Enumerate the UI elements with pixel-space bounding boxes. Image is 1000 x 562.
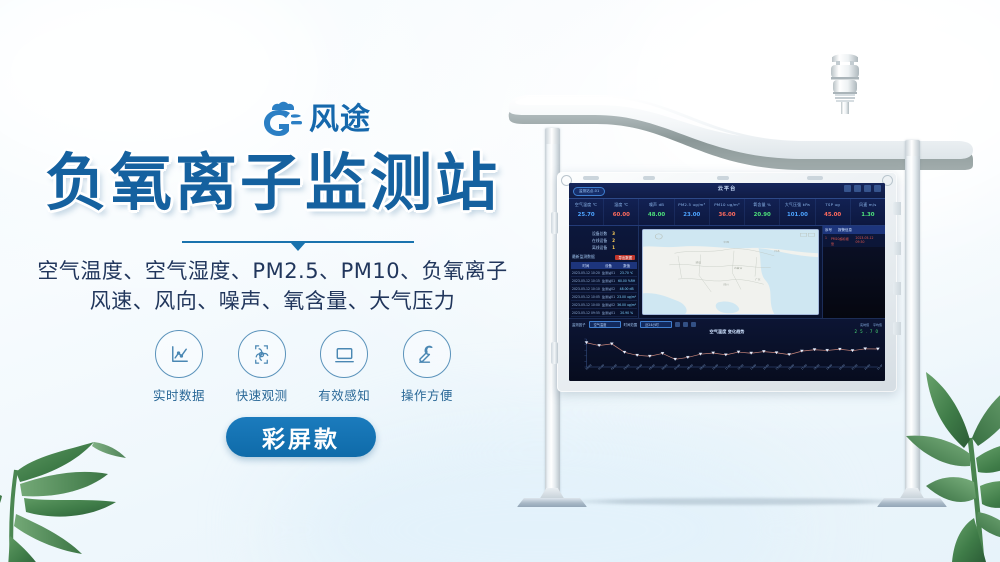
dashboard-middle: 设备总数3在线设备2离线设备1 最新监测数据 导出数据 时间设备数值 2023-… xyxy=(569,226,885,318)
kpi-card: 风速 m/s1.30 xyxy=(851,199,885,225)
monitor-icon xyxy=(320,330,368,378)
svg-text:内蒙古: 内蒙古 xyxy=(734,266,743,269)
kpi-card: PM2.5 ug/m³23.00 xyxy=(675,199,710,225)
kpi-label: 空气温度 ℃ xyxy=(569,202,603,208)
alarm-header: 序号 报警信息 xyxy=(823,226,885,234)
feature-list: 实时数据 快速观测 xyxy=(143,330,463,404)
pole-cap-right xyxy=(905,140,920,156)
table-row[interactable]: 2023-05-12 10:10监测站0248.00 dB xyxy=(571,285,637,293)
table-cell: 监测站01 xyxy=(601,277,616,285)
feature-item-effective-sensing[interactable]: 有效感知 xyxy=(308,330,380,404)
feature-item-easy-operation[interactable]: 操作方便 xyxy=(391,330,463,404)
feature-item-realtime-data[interactable]: 实时数据 xyxy=(143,330,215,404)
kpi-value: 1.30 xyxy=(851,212,885,218)
ultrasonic-weather-sensor-icon xyxy=(822,52,868,114)
alarm-cell: 2023-05-12 09:30 xyxy=(856,236,883,246)
table-cell: 监测站01 xyxy=(601,293,616,301)
line-chart-icon xyxy=(155,330,203,378)
legend-item-1: 平均值 xyxy=(873,323,882,327)
dashboard-right-panel: 序号 报警信息 1PM10超标报警2023-05-12 09:30 xyxy=(822,226,885,318)
kpi-value: 101.00 xyxy=(780,212,814,218)
table-cell: 23.00 ug/m³ xyxy=(616,293,637,301)
kpi-card: PM10 ug/m³36.00 xyxy=(710,199,745,225)
bezel-tab-4 xyxy=(807,176,823,180)
feature-item-fast-observation[interactable]: 快速观测 xyxy=(226,330,298,404)
bezel-tab-1 xyxy=(583,176,599,180)
chart-tool-bar-icon[interactable] xyxy=(675,322,680,327)
cabinet-hinge-left xyxy=(551,212,558,234)
kpi-value: 20.90 xyxy=(745,212,779,218)
feature-label: 实时数据 xyxy=(143,385,215,404)
feature-label: 有效感知 xyxy=(308,385,380,404)
pole-cap-left xyxy=(545,128,560,144)
svg-text:四川: 四川 xyxy=(724,284,730,287)
svg-text:23:00: 23:00 xyxy=(877,364,882,371)
alarm-cell: 1 xyxy=(825,236,827,246)
alarm-empty-area xyxy=(823,247,885,319)
display-cabinet: 监测站点-01 云平台 空气温度 ℃25.70湿度 ℃60.00噪声 dB48.… xyxy=(557,172,897,392)
device-stat-value: 3 xyxy=(612,230,615,237)
toolbar-icon-4[interactable] xyxy=(874,185,881,192)
alarm-col-1: 报警信息 xyxy=(838,228,852,233)
chart-legend: 实时值 平均值 xyxy=(860,323,882,327)
ground-shadow xyxy=(560,498,920,505)
alarm-cell: PM10超标报警 xyxy=(831,236,852,246)
base-plate-right xyxy=(877,488,947,506)
subtitle-line-1: 空气温度、空气湿度、PM2.5、PM10、负氧离子 xyxy=(0,256,545,286)
trend-chart: 00:0001:0002:0003:0004:0005:0006:0007:00… xyxy=(572,335,882,379)
table-row[interactable]: 2023-05-12 10:15监测站0160.00 %RH xyxy=(571,277,637,285)
brand-logo: 风途 xyxy=(258,100,371,140)
subtitle-line-2: 风速、风向、噪声、氧含量、大气压力 xyxy=(0,286,545,316)
device-stat-label: 在线设备 xyxy=(592,237,607,244)
dashboard-header: 监测站点-01 云平台 xyxy=(569,183,885,199)
table-cell: 2023-05-12 10:10 xyxy=(571,285,601,293)
kpi-label: 大气压强 kPa xyxy=(780,202,814,208)
table-column-header: 数值 xyxy=(616,262,637,269)
table-cell: 2023-05-12 10:00 xyxy=(571,301,601,309)
device-map[interactable]: 中国 新疆 内蒙古 四川 广东 日本 xyxy=(642,229,819,315)
kpi-label: 湿度 ℃ xyxy=(604,202,638,208)
export-button[interactable]: 导出数据 xyxy=(615,255,635,260)
cabinet-lug-3 xyxy=(893,282,901,295)
device-stat-row: 设备总数3 xyxy=(571,230,636,237)
table-caption: 最新监测数据 xyxy=(572,254,595,260)
table-header-bar: 最新监测数据 导出数据 xyxy=(572,254,635,260)
chart-controls: 监测因子 空气温度 时间范围 近24小时 实时值 平均值 xyxy=(569,321,885,328)
wrench-icon xyxy=(403,330,451,378)
cta-button[interactable]: 彩屏款 xyxy=(226,417,376,457)
toolbar-icon-1[interactable] xyxy=(844,185,851,192)
dashboard-left-panel: 设备总数3在线设备2离线设备1 最新监测数据 导出数据 时间设备数值 2023-… xyxy=(569,226,639,318)
chart-tool-export-icon[interactable] xyxy=(691,322,696,327)
table-cell: 23.70 ℃ xyxy=(616,269,637,277)
svg-text:新疆: 新疆 xyxy=(696,261,702,264)
device-stats: 设备总数3在线设备2离线设备1 xyxy=(571,230,636,251)
table-cell: 监测站02 xyxy=(601,285,616,293)
table-cell: 48.00 dB xyxy=(616,285,637,293)
table-head-row: 时间设备数值 xyxy=(571,262,637,269)
cloud-g-leaf-logo-icon xyxy=(258,100,302,140)
device-stat-row: 在线设备2 xyxy=(571,237,636,244)
bezel-tab-2 xyxy=(643,176,655,180)
table-cell: 36.00 ug/m³ xyxy=(616,301,637,309)
cabinet-lug-1 xyxy=(893,202,901,215)
brand-name: 风途 xyxy=(309,105,371,135)
toolbar-icon-3[interactable] xyxy=(864,185,871,192)
kpi-value: 23.00 xyxy=(675,212,709,218)
hero-subtitle: 空气温度、空气湿度、PM2.5、PM10、负氧离子 风速、风向、噪声、氧含量、大… xyxy=(0,256,545,316)
bezel-tab-3 xyxy=(717,176,729,180)
kpi-card: TSP ug45.00 xyxy=(816,199,851,225)
table-row[interactable]: 2023-05-12 09:55监测站0120.90 % xyxy=(571,309,637,317)
table-column-header: 时间 xyxy=(571,262,601,269)
kpi-value: 25.70 xyxy=(569,212,603,218)
radar-scan-icon xyxy=(238,330,286,378)
table-cell: 20.90 % xyxy=(616,309,637,317)
device-stat-label: 离线设备 xyxy=(592,244,607,251)
kpi-value: 60.00 xyxy=(604,212,638,218)
device-stat-label: 设备总数 xyxy=(592,230,607,237)
kpi-label: 噪声 dB xyxy=(639,202,673,208)
table-cell: 2023-05-12 10:15 xyxy=(571,277,601,285)
cabinet-lug-2 xyxy=(893,242,901,255)
range-label: 时间范围 xyxy=(624,322,638,327)
kpi-card: 氧含量 %20.90 xyxy=(745,199,780,225)
table-cell: 2023-05-12 10:20 xyxy=(571,269,601,277)
feature-label: 快速观测 xyxy=(226,385,298,404)
title-divider xyxy=(182,238,414,252)
poster-canvas: 监测站点-01 云平台 空气温度 ℃25.70湿度 ℃60.00噪声 dB48.… xyxy=(0,0,1000,562)
kpi-value: 45.00 xyxy=(816,212,850,218)
svg-text:日本: 日本 xyxy=(774,249,780,252)
factor-select[interactable]: 空气温度 xyxy=(589,321,621,328)
kpi-label: PM2.5 ug/m³ xyxy=(675,202,709,208)
table-cell: 监测站01 xyxy=(601,269,616,277)
kpi-value: 36.00 xyxy=(710,212,744,218)
table-row[interactable]: 2023-05-12 10:20监测站0123.70 ℃ xyxy=(571,269,637,277)
table-cell: 监测站02 xyxy=(601,301,616,309)
page-title: 负氧离子监测站 xyxy=(0,152,545,214)
toolbar-icon-2[interactable] xyxy=(854,185,861,192)
table-cell: 2023-05-12 09:55 xyxy=(571,309,601,317)
svg-text:广东: 广东 xyxy=(755,278,761,281)
table-row[interactable]: 2023-05-12 10:00监测站0236.00 ug/m³ xyxy=(571,301,637,309)
kpi-card: 大气压强 kPa101.00 xyxy=(780,199,815,225)
alarm-row[interactable]: 1PM10超标报警2023-05-12 09:30 xyxy=(823,234,885,247)
cabinet-hinge-left-2 xyxy=(551,342,558,364)
feature-label: 操作方便 xyxy=(391,385,463,404)
alarm-col-0: 序号 xyxy=(825,228,832,233)
kpi-label: 氧含量 % xyxy=(745,202,779,208)
table-cell: 监测站01 xyxy=(601,309,616,317)
device-stat-value: 2 xyxy=(612,237,615,244)
factor-label: 监测因子 xyxy=(572,322,586,327)
dashboard-title: 云平台 xyxy=(569,185,885,192)
device-stat-row: 离线设备1 xyxy=(571,244,636,251)
table-cell: 2023-05-12 10:05 xyxy=(571,293,601,301)
device-stat-value: 1 xyxy=(612,244,615,251)
trend-panel: 监测因子 空气温度 时间范围 近24小时 实时值 平均值 xyxy=(569,318,885,381)
kpi-value: 48.00 xyxy=(639,212,673,218)
dashboard: 监测站点-01 云平台 空气温度 ℃25.70湿度 ℃60.00噪声 dB48.… xyxy=(569,183,885,381)
cabinet-lug-4 xyxy=(893,322,901,335)
table-row[interactable]: 2023-05-12 10:05监测站0123.00 ug/m³ xyxy=(571,293,637,301)
table-cell: 60.00 %RH xyxy=(616,277,637,285)
kpi-label: TSP ug xyxy=(816,202,850,208)
chart-current-value: 25.70 xyxy=(855,329,881,334)
kpi-row: 空气温度 ℃25.70湿度 ℃60.00噪声 dB48.00PM2.5 ug/m… xyxy=(569,199,885,226)
led-display-screen[interactable]: 监测站点-01 云平台 空气温度 ℃25.70湿度 ℃60.00噪声 dB48.… xyxy=(569,183,885,381)
legend-item-0: 实时值 xyxy=(860,323,869,327)
kpi-card: 湿度 ℃60.00 xyxy=(604,199,639,225)
kpi-label: PM10 ug/m³ xyxy=(710,202,744,208)
hero-text-column: 风途 负氧离子监测站 空气温度、空气湿度、PM2.5、PM10、负氧离子 风速、… xyxy=(0,0,545,562)
range-select[interactable]: 近24小时 xyxy=(640,321,672,328)
kpi-label: 风速 m/s xyxy=(851,202,885,208)
chart-tool-line-icon[interactable] xyxy=(683,322,688,327)
svg-text:中国: 中国 xyxy=(724,240,730,243)
kpi-card: 噪声 dB48.00 xyxy=(639,199,674,225)
kpi-card: 空气温度 ℃25.70 xyxy=(569,199,604,225)
support-pole-right xyxy=(905,140,920,496)
dashboard-toolbar[interactable] xyxy=(844,185,881,192)
table-column-header: 设备 xyxy=(601,262,616,269)
alarm-rows: 1PM10超标报警2023-05-12 09:30 xyxy=(823,234,885,247)
